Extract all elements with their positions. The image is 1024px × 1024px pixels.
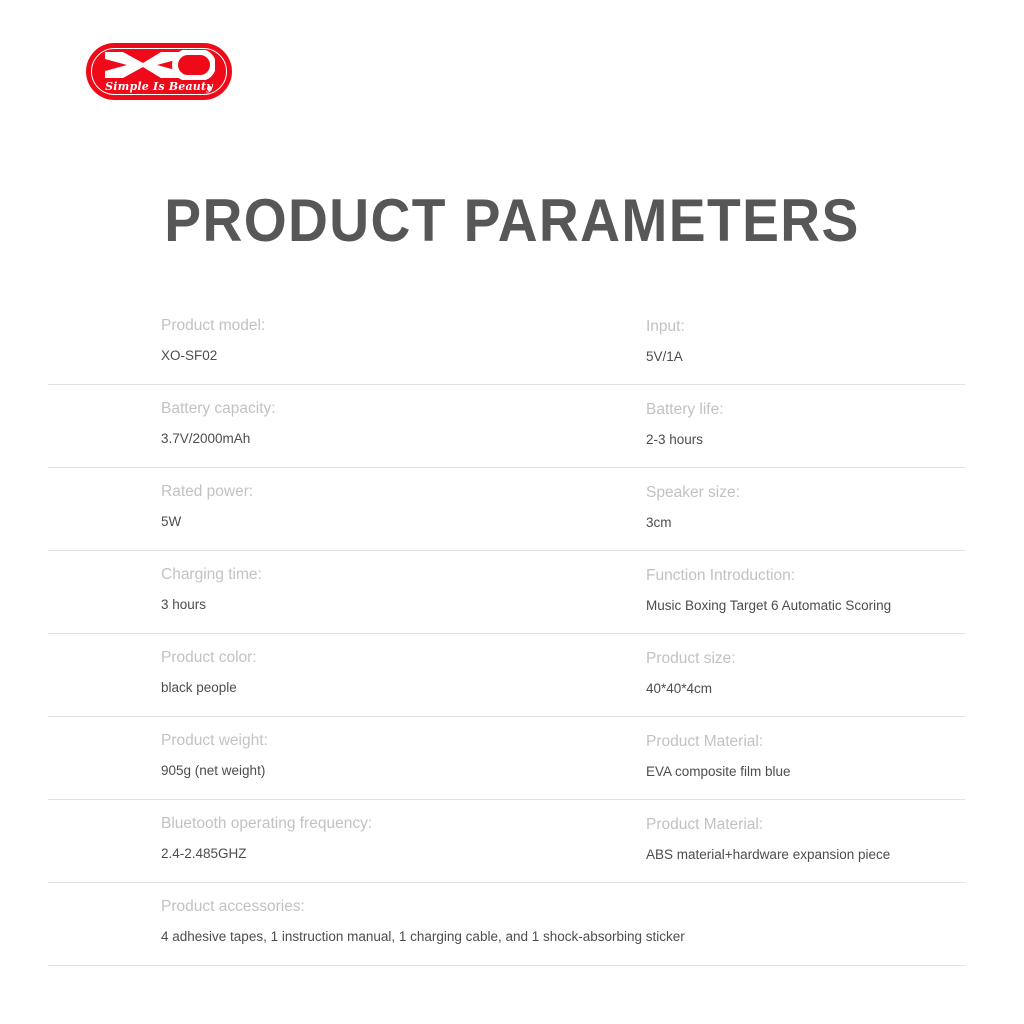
logo-tagline: Simple Is Beauty: [86, 80, 232, 93]
spec-value: 2-3 hours: [646, 418, 976, 447]
spec-label: Bluetooth operating frequency:: [161, 800, 641, 832]
spec-label: Product accessories:: [161, 883, 971, 915]
spec-cell: Product model: XO-SF02: [161, 302, 641, 362]
product-parameters-table: Product model: XO-SF02 Input: 5V/1A Batt…: [48, 302, 965, 966]
spec-label: Speaker size:: [646, 468, 976, 501]
logo-xo-mark: [86, 50, 232, 80]
spec-label: Input:: [646, 302, 976, 335]
spec-cell: Battery capacity: 3.7V/2000mAh: [161, 385, 641, 445]
spec-label: Battery life:: [646, 385, 976, 418]
spec-value: 3 hours: [161, 583, 641, 612]
spec-value: Music Boxing Target 6 Automatic Scoring: [646, 584, 976, 613]
spec-value: 40*40*4cm: [646, 667, 976, 696]
spec-value: ABS material+hardware expansion piece: [646, 833, 976, 862]
spec-cell: Input: 5V/1A: [646, 302, 976, 363]
spec-label: Product Material:: [646, 717, 976, 750]
spec-label: Product Material:: [646, 800, 976, 833]
table-row: Product color: black people Product size…: [48, 634, 965, 717]
spec-label: Rated power:: [161, 468, 641, 500]
brand-logo: Simple Is Beauty: [86, 43, 232, 100]
spec-value: 5W: [161, 500, 641, 529]
table-row: Product accessories: 4 adhesive tapes, 1…: [48, 883, 965, 966]
spec-cell: Speaker size: 3cm: [646, 468, 976, 529]
spec-label: Charging time:: [161, 551, 641, 583]
spec-label: Product weight:: [161, 717, 641, 749]
spec-label: Product color:: [161, 634, 641, 666]
table-row: Product weight: 905g (net weight) Produc…: [48, 717, 965, 800]
spec-value: EVA composite film blue: [646, 750, 976, 779]
spec-cell: Product Material: EVA composite film blu…: [646, 717, 976, 778]
table-row: Charging time: 3 hours Function Introduc…: [48, 551, 965, 634]
spec-cell: Product weight: 905g (net weight): [161, 717, 641, 777]
spec-cell: Product accessories: 4 adhesive tapes, 1…: [161, 883, 971, 943]
spec-value: 2.4-2.485GHZ: [161, 832, 641, 861]
spec-cell: Charging time: 3 hours: [161, 551, 641, 611]
table-row: Rated power: 5W Speaker size: 3cm: [48, 468, 965, 551]
spec-cell: Product color: black people: [161, 634, 641, 694]
spec-cell: Rated power: 5W: [161, 468, 641, 528]
spec-cell: Product size: 40*40*4cm: [646, 634, 976, 695]
page-title: PRODUCT PARAMETERS: [41, 186, 983, 255]
spec-value: 5V/1A: [646, 335, 976, 364]
spec-label: Function Introduction:: [646, 551, 976, 584]
spec-value: black people: [161, 666, 641, 695]
table-row: Bluetooth operating frequency: 2.4-2.485…: [48, 800, 965, 883]
spec-value: XO-SF02: [161, 334, 641, 363]
spec-cell: Function Introduction: Music Boxing Targ…: [646, 551, 976, 612]
spec-cell: Product Material: ABS material+hardware …: [646, 800, 976, 861]
table-row: Product model: XO-SF02 Input: 5V/1A: [48, 302, 965, 385]
spec-cell: Battery life: 2-3 hours: [646, 385, 976, 446]
table-row: Battery capacity: 3.7V/2000mAh Battery l…: [48, 385, 965, 468]
spec-value: 4 adhesive tapes, 1 instruction manual, …: [161, 915, 971, 944]
spec-cell: Bluetooth operating frequency: 2.4-2.485…: [161, 800, 641, 860]
spec-value: 905g (net weight): [161, 749, 641, 778]
spec-value: 3cm: [646, 501, 976, 530]
spec-label: Product model:: [161, 302, 641, 334]
spec-value: 3.7V/2000mAh: [161, 417, 641, 446]
spec-label: Battery capacity:: [161, 385, 641, 417]
spec-label: Product size:: [646, 634, 976, 667]
